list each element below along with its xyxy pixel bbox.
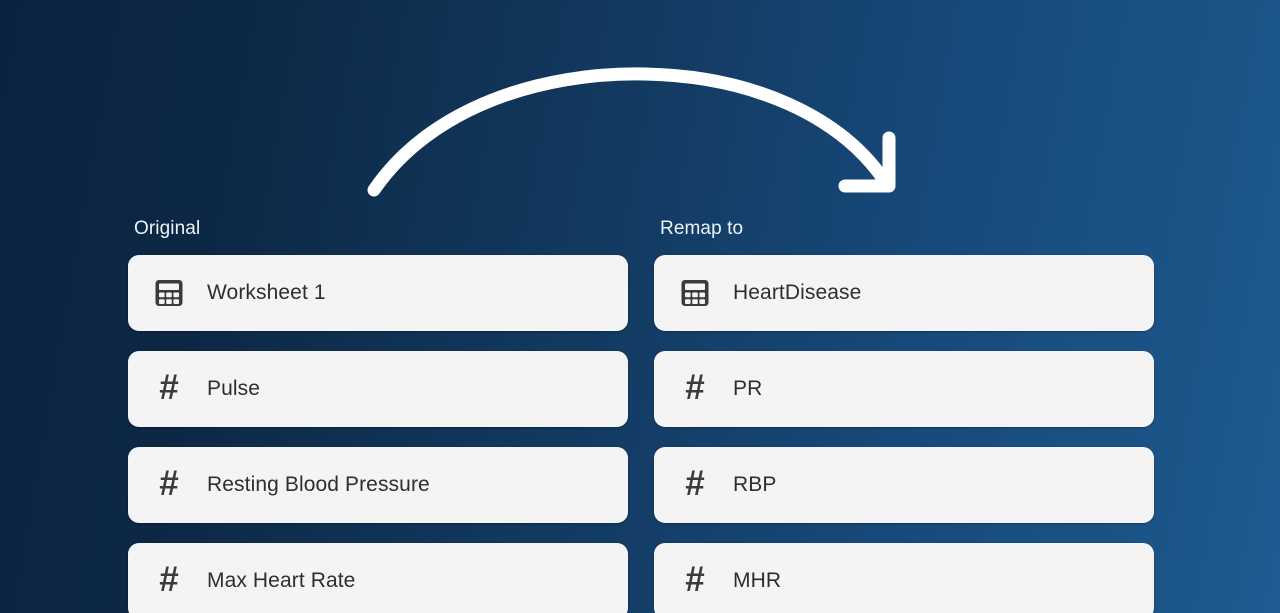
- original-column-label: Original: [134, 218, 628, 240]
- field-row-original-2[interactable]: # Resting Blood Pressure: [128, 447, 628, 523]
- remap-to-column: Remap to HeartDisease: [654, 218, 1154, 613]
- field-row-original-3[interactable]: # Max Heart Rate: [128, 543, 628, 613]
- table-icon: [154, 278, 184, 308]
- hash-icon: #: [680, 566, 710, 596]
- remap-fields-screen: Original Worksheet 1: [0, 0, 1280, 613]
- arrow-head: [845, 138, 889, 186]
- table-icon: [680, 278, 710, 308]
- field-label: HeartDisease: [733, 281, 861, 305]
- field-row-remap-3[interactable]: # MHR: [654, 543, 1154, 613]
- field-row-remap-1[interactable]: # PR: [654, 351, 1154, 427]
- hash-icon: #: [680, 470, 710, 500]
- field-row-remap-2[interactable]: # RBP: [654, 447, 1154, 523]
- field-label: PR: [733, 377, 762, 401]
- field-label: RBP: [733, 473, 776, 497]
- field-row-original-0[interactable]: Worksheet 1: [128, 255, 628, 331]
- original-column: Original Worksheet 1: [128, 218, 628, 613]
- field-row-original-1[interactable]: # Pulse: [128, 351, 628, 427]
- field-row-remap-0[interactable]: HeartDisease: [654, 255, 1154, 331]
- hash-icon: #: [154, 374, 184, 404]
- remap-to-column-label: Remap to: [660, 218, 1154, 240]
- field-label: MHR: [733, 569, 781, 593]
- hash-icon: #: [154, 566, 184, 596]
- field-label: Worksheet 1: [207, 281, 326, 305]
- field-label: Resting Blood Pressure: [207, 473, 430, 497]
- arrow-arc: [374, 74, 884, 190]
- hash-icon: #: [154, 470, 184, 500]
- hash-icon: #: [680, 374, 710, 404]
- field-label: Pulse: [207, 377, 260, 401]
- field-label: Max Heart Rate: [207, 569, 355, 593]
- remap-columns: Original Worksheet 1: [128, 218, 1154, 613]
